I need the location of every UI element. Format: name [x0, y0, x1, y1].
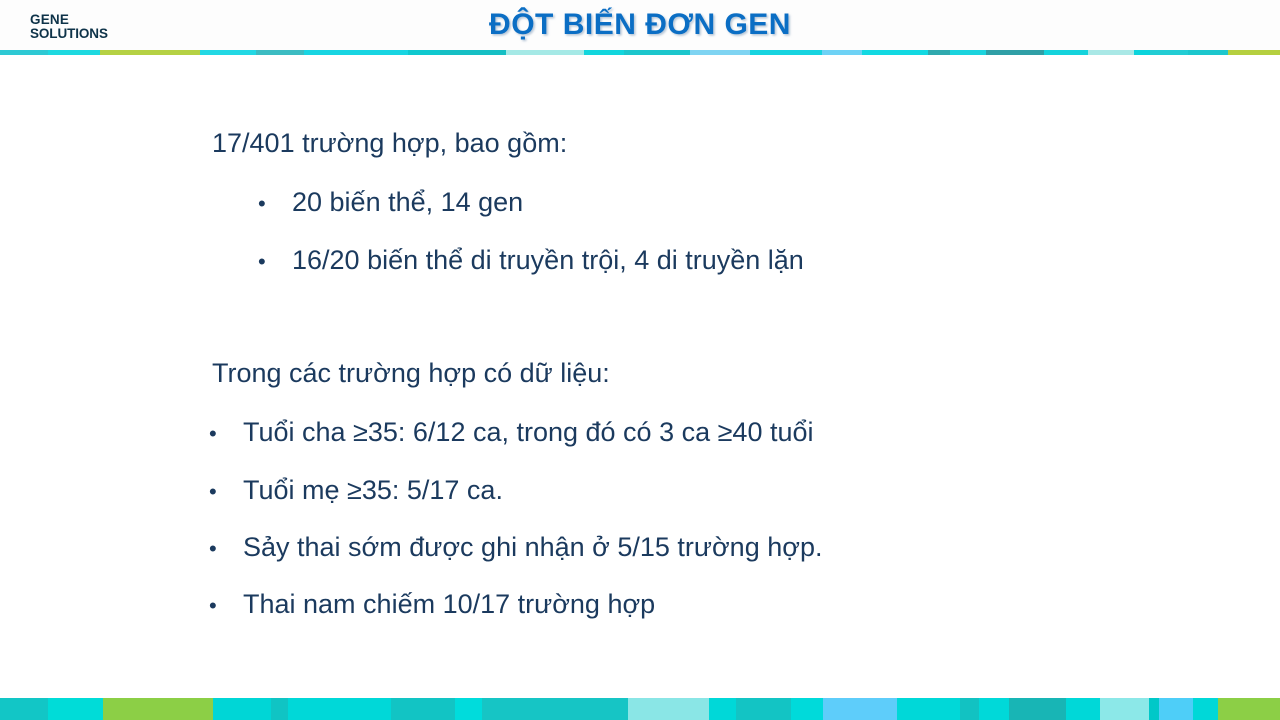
bottom-bar-segment — [482, 698, 628, 720]
intro-paragraph: 17/401 trường hợp, bao gồm: — [212, 128, 567, 159]
bullet-dot-icon: • — [209, 423, 243, 445]
bullet-dot-icon: • — [209, 538, 243, 560]
bottom-decorative-bar — [0, 698, 1280, 720]
bottom-bar-segment — [1066, 698, 1100, 720]
main-bullet-item: • Tuổi mẹ ≥35: 5/17 ca. — [209, 475, 503, 506]
bottom-bar-segment — [897, 698, 960, 720]
bottom-bar-segment — [823, 698, 897, 720]
bottom-bar-segment — [736, 698, 791, 720]
main-bullet-item: • Sảy thai sớm được ghi nhận ở 5/15 trườ… — [209, 532, 822, 563]
bottom-bar-segment — [271, 698, 288, 720]
bottom-bar-segment — [979, 698, 1009, 720]
main-bullet-text: Sảy thai sớm được ghi nhận ở 5/15 trường… — [243, 532, 822, 563]
bullet-dot-icon: • — [209, 595, 243, 617]
second-heading: Trong các trường hợp có dữ liệu: — [212, 358, 610, 389]
bottom-bar-segment — [391, 698, 454, 720]
sub-bullet-text: 20 biến thể, 14 gen — [292, 187, 523, 218]
bottom-bar-segment — [1218, 698, 1279, 720]
main-bullet-text: Tuổi mẹ ≥35: 5/17 ca. — [243, 475, 503, 506]
bullet-dot-icon: • — [258, 251, 292, 273]
bottom-bar-segment — [1159, 698, 1193, 720]
sub-bullet-text: 16/20 biến thể di truyền trội, 4 di truy… — [292, 245, 804, 276]
bullet-dot-icon: • — [209, 481, 243, 503]
slide-body: 17/401 trường hợp, bao gồm: • 20 biến th… — [0, 55, 1280, 698]
bottom-bar-segment — [1149, 698, 1160, 720]
sub-bullet-item: • 16/20 biến thể di truyền trội, 4 di tr… — [258, 245, 804, 276]
bottom-bar-segment — [103, 698, 213, 720]
main-bullet-text: Tuổi cha ≥35: 6/12 ca, trong đó có 3 ca … — [243, 417, 814, 448]
slide-header: GENE SOLUTIONS ĐỘT BIẾN ĐƠN GEN — [0, 0, 1280, 50]
slide: GENE SOLUTIONS ĐỘT BIẾN ĐƠN GEN 17/401 t… — [0, 0, 1280, 720]
bottom-bar-segment — [455, 698, 483, 720]
bottom-bar-segment — [1009, 698, 1066, 720]
bottom-bar-segment — [213, 698, 271, 720]
bottom-bar-segment — [960, 698, 979, 720]
bottom-bar-segment — [628, 698, 708, 720]
main-bullet-item: • Thai nam chiếm 10/17 trường hợp — [209, 589, 655, 620]
sub-bullet-item: • 20 biến thể, 14 gen — [258, 187, 523, 218]
bottom-bar-segment — [288, 698, 392, 720]
main-bullet-item: • Tuổi cha ≥35: 6/12 ca, trong đó có 3 c… — [209, 417, 814, 448]
bottom-bar-segment — [1100, 698, 1149, 720]
main-bullet-text: Thai nam chiếm 10/17 trường hợp — [243, 589, 655, 620]
bottom-bar-segment — [0, 698, 48, 720]
bottom-bar-segment — [709, 698, 737, 720]
page-title: ĐỘT BIẾN ĐƠN GEN — [0, 8, 1280, 42]
bullet-dot-icon: • — [258, 193, 292, 215]
bottom-bar-segment — [1193, 698, 1218, 720]
bottom-bar-segment — [791, 698, 823, 720]
bottom-bar-segment — [48, 698, 103, 720]
